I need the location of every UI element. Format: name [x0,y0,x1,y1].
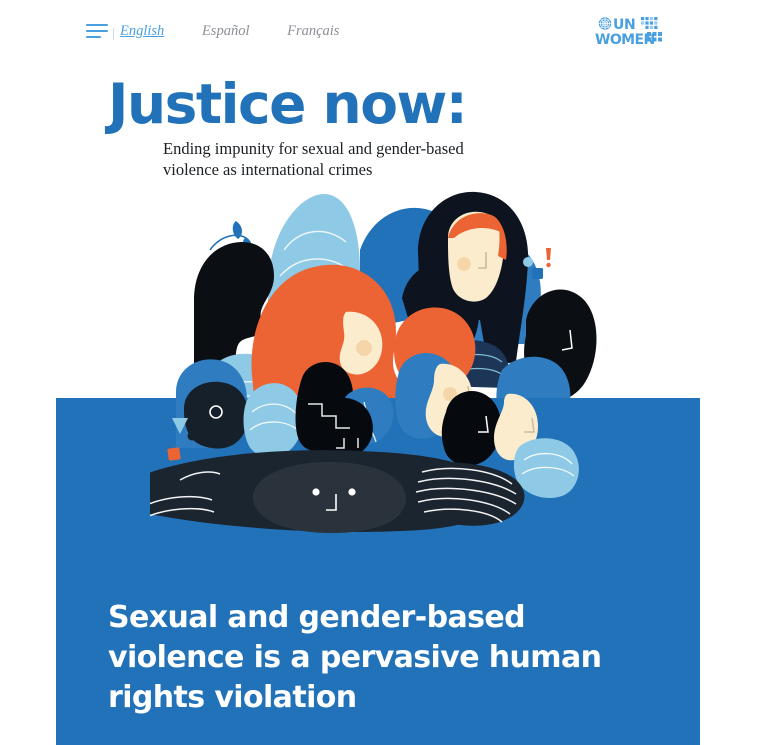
nav-divider [113,28,114,40]
language-link-francais[interactable]: Français [287,23,339,40]
report-landing-page: English Español Français UN [0,0,764,745]
language-link-english[interactable]: English [120,23,164,40]
deco-dot-lightblue [523,257,533,267]
deco-square-blue [532,268,543,279]
language-switcher: English Español Français [120,23,339,40]
page-title: Justice now: [108,74,466,134]
eye-dot-right [348,488,355,495]
foreground-front-face [253,462,406,533]
hamburger-menu-icon[interactable] [86,24,110,41]
page-subtitle: Ending impunity for sexual and gender-ba… [163,138,523,180]
un-women-logo[interactable]: UN WOMEN [595,16,670,47]
top-navigation-bar: English Español Français UN [0,0,764,62]
language-link-espanol[interactable]: Español [202,23,250,40]
menu-line-1 [86,24,108,26]
deco-dot-orange [546,263,550,267]
cheek-blush-1 [356,340,372,356]
cheek-blush-2 [457,257,471,271]
eye-dot-left [312,488,319,495]
deco-exclamation-orange [546,248,551,260]
crowd-illustration [150,180,620,560]
deco-dot-dark [188,432,197,441]
un-women-logo-svg: UN WOMEN [595,16,670,47]
menu-line-2 [86,30,108,32]
panel-heading: Sexual and gender-based violence is a pe… [108,598,648,718]
svg-text:UN: UN [613,17,635,33]
menu-line-3 [86,36,101,38]
un-emblem-icon [599,17,611,29]
svg-text:WOMEN: WOMEN [595,32,655,47]
deco-square-orange [167,447,181,461]
crowd-illustration-svg [150,180,620,560]
